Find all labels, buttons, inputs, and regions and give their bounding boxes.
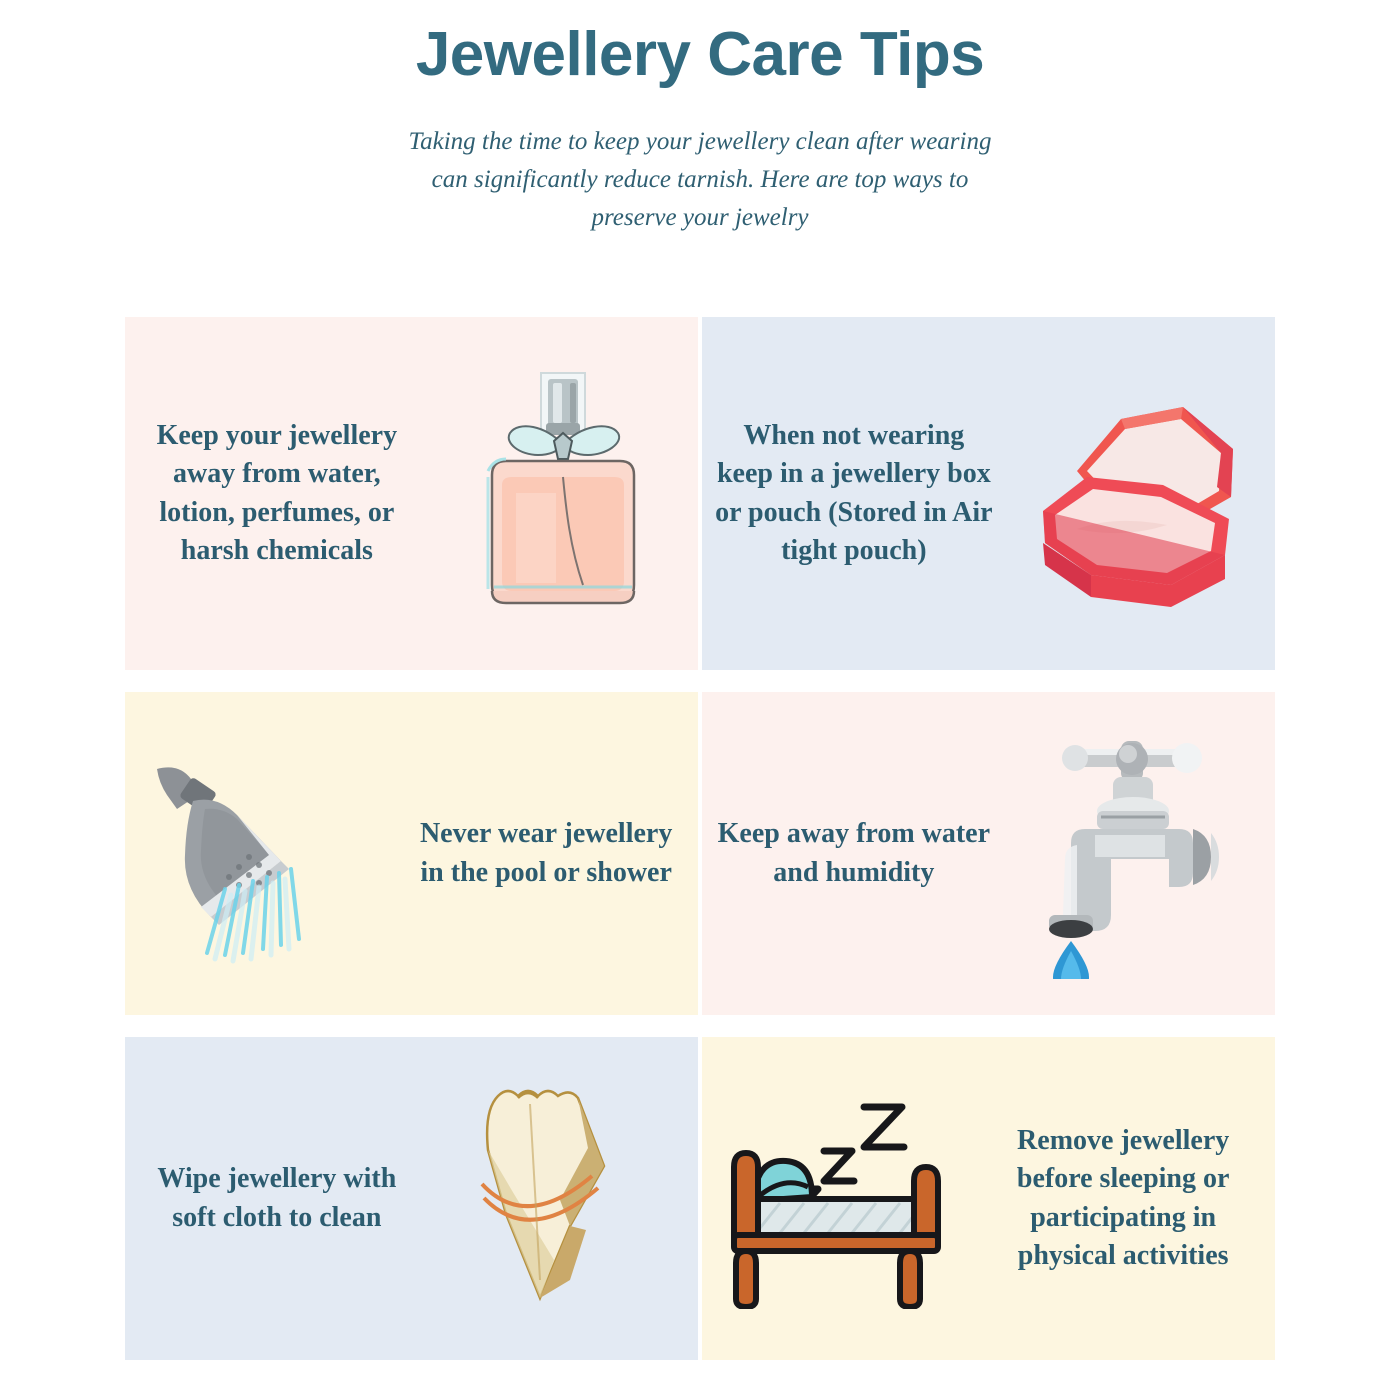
tip-card-faucet: Keep away from water and humidity [702, 692, 1275, 1015]
tip-card-cloth: Wipe jewellery with soft cloth to clean [125, 1037, 698, 1360]
tip-text: Remove jewellery before sleeping or part… [971, 1122, 1275, 1274]
page-title: Jewellery Care Tips [0, 22, 1400, 87]
perfume-bottle-icon [429, 317, 698, 670]
infographic-page: Jewellery Care Tips Taking the time to k… [0, 0, 1400, 1400]
page-subtitle: Taking the time to keep your jewellery c… [390, 123, 1010, 237]
tip-card-shower: Never wear jewellery in the pool or show… [125, 692, 698, 1015]
tip-card-perfume: Keep your jewellery away from water, lot… [125, 317, 698, 670]
tip-text: Keep your jewellery away from water, lot… [125, 417, 429, 569]
tip-card-bed: Remove jewellery before sleeping or part… [702, 1037, 1275, 1360]
shower-head-icon [125, 692, 394, 1015]
tips-grid: Keep your jewellery away from water, lot… [125, 317, 1275, 1360]
header: Jewellery Care Tips Taking the time to k… [0, 0, 1400, 237]
tip-text: Never wear jewellery in the pool or show… [394, 815, 698, 891]
tip-text: Keep away from water and humidity [702, 815, 1006, 891]
faucet-icon [1006, 692, 1275, 1015]
tip-text: Wipe jewellery with soft cloth to clean [125, 1160, 429, 1236]
tip-card-jewellery-box: When not wearing keep in a jewellery box… [702, 317, 1275, 670]
bed-sleep-icon [702, 1037, 971, 1360]
cloth-icon [429, 1037, 698, 1360]
tip-text: When not wearing keep in a jewellery box… [702, 417, 1006, 569]
ring-box-icon [1006, 317, 1275, 670]
